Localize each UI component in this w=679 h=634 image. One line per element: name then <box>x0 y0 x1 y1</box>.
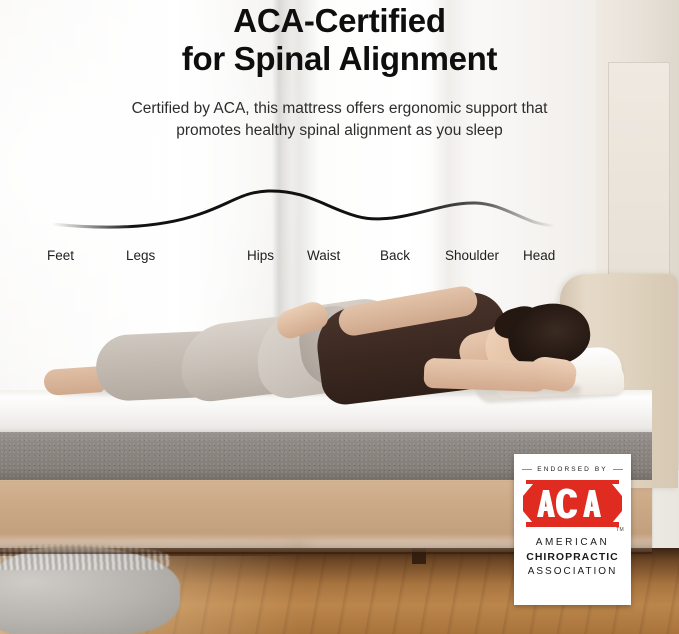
spine-label-head: Head <box>523 248 555 263</box>
spine-label-row: Feet Legs Hips Waist Back Shoulder Head <box>0 248 679 270</box>
rule-left <box>522 469 532 470</box>
spine-label-hips: Hips <box>247 248 274 263</box>
subtitle-line-2: promotes healthy spinal alignment as you… <box>0 120 679 142</box>
page-title: ACA-Certified for Spinal Alignment <box>0 0 679 78</box>
organization-name: AMERICAN CHIROPRACTIC ASSOCIATION <box>522 536 623 579</box>
aca-endorsement-badge: ENDORSED BY TM AMERICAN <box>514 454 631 605</box>
aca-logo: TM <box>523 480 622 527</box>
org-line-association: ASSOCIATION <box>522 565 623 579</box>
subtitle-line-1: Certified by ACA, this mattress offers e… <box>0 98 679 120</box>
headline-line-2: for Spinal Alignment <box>0 40 679 78</box>
spine-label-shoulder: Shoulder <box>445 248 499 263</box>
product-marketing-image: ACA-Certified for Spinal Alignment Certi… <box>0 0 679 634</box>
org-line-chiropractic: CHIROPRACTIC <box>522 550 623 565</box>
rule-right <box>613 469 623 470</box>
spine-label-waist: Waist <box>307 248 340 263</box>
aca-logo-lettermark <box>523 484 622 523</box>
headline-line-1: ACA-Certified <box>0 0 679 40</box>
spine-alignment-curve <box>0 170 679 240</box>
org-line-american: AMERICAN <box>522 536 623 550</box>
spine-label-legs: Legs <box>126 248 155 263</box>
subtitle: Certified by ACA, this mattress offers e… <box>0 98 679 142</box>
endorsed-by-label: ENDORSED BY <box>537 466 607 473</box>
spine-label-back: Back <box>380 248 410 263</box>
trademark-symbol: TM <box>616 527 624 533</box>
aca-logo-bar-bottom <box>526 522 619 527</box>
endorsed-by-row: ENDORSED BY <box>522 466 623 473</box>
spine-label-feet: Feet <box>47 248 74 263</box>
